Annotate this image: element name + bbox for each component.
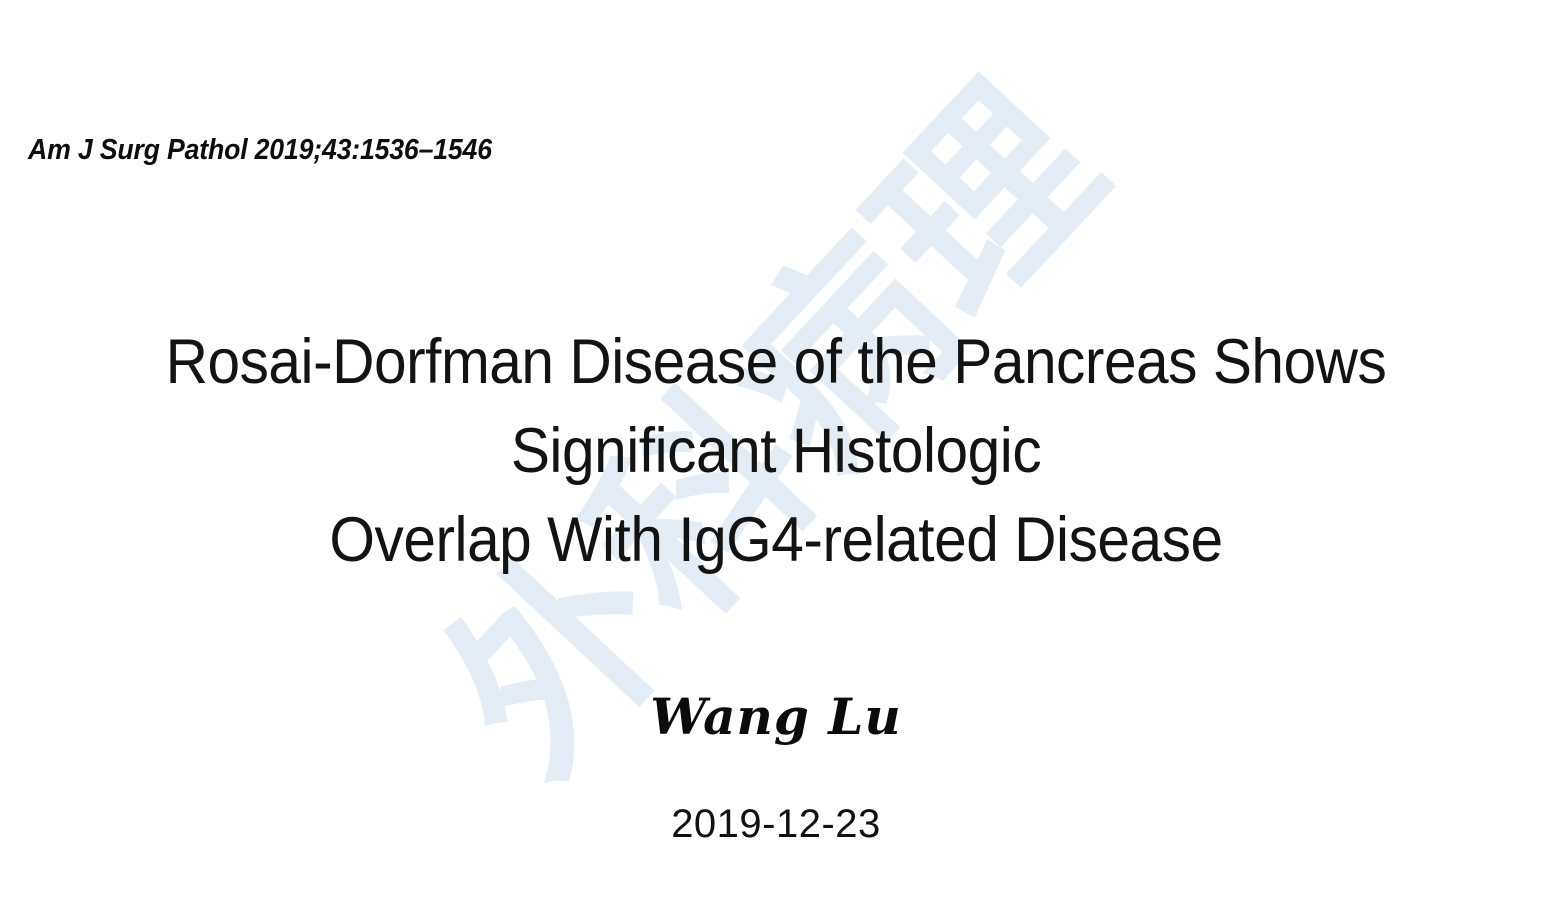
slide-content: Am J Surg Pathol 2019;43:1536–1546 Rosai… xyxy=(0,0,1552,905)
author-name: Wang Lu xyxy=(0,686,1552,748)
title-line-2: Significant Histologic xyxy=(54,407,1497,496)
title-line-1: Rosai-Dorfman Disease of the Pancreas Sh… xyxy=(54,318,1497,407)
title-line-3: Overlap With IgG4-related Disease xyxy=(54,496,1497,585)
page-title: Rosai-Dorfman Disease of the Pancreas Sh… xyxy=(0,318,1552,585)
presentation-date: 2019-12-23 xyxy=(0,798,1552,850)
journal-citation: Am J Surg Pathol 2019;43:1536–1546 xyxy=(28,133,492,168)
title-slide: 外科病理 Am J Surg Pathol 2019;43:1536–1546 … xyxy=(0,0,1552,905)
